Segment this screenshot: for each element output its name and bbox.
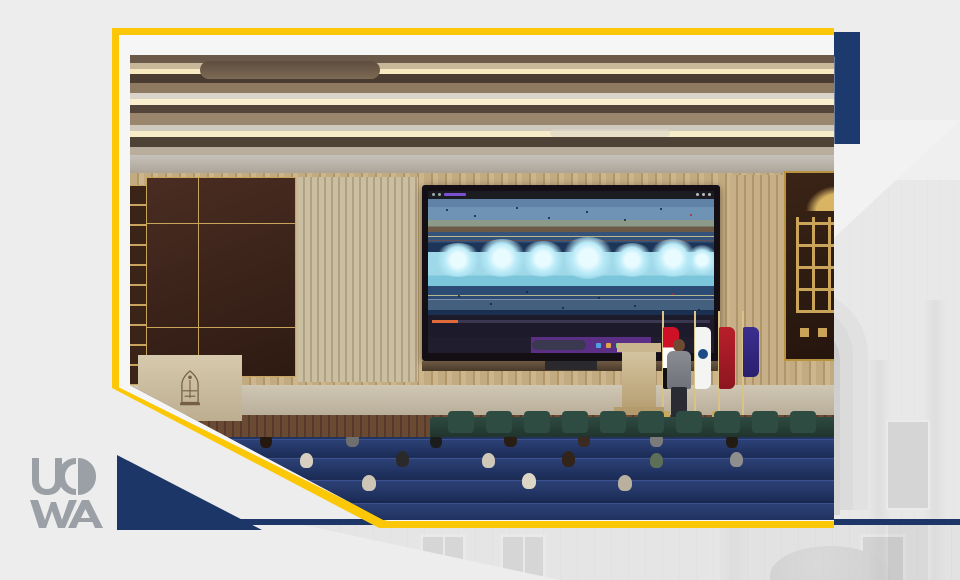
attendee-hijab bbox=[522, 473, 536, 489]
attendee bbox=[260, 437, 272, 448]
wall-curtain bbox=[298, 177, 418, 382]
attendee bbox=[430, 437, 442, 448]
calligraphy-square bbox=[818, 328, 827, 337]
wooden-desk bbox=[138, 355, 242, 421]
attendee-hijab bbox=[300, 453, 313, 468]
screen-stand bbox=[545, 361, 597, 370]
attendee bbox=[650, 453, 663, 468]
ceiling-vent bbox=[200, 61, 380, 79]
attendee bbox=[730, 452, 743, 467]
attendee-hijab bbox=[482, 453, 495, 468]
attendee bbox=[346, 437, 359, 447]
university-emblem-icon bbox=[172, 369, 208, 409]
poster-stage bbox=[0, 0, 960, 580]
ceiling-light bbox=[550, 129, 670, 137]
calligraphy-crest bbox=[800, 181, 834, 211]
attendee bbox=[618, 475, 632, 491]
attendee bbox=[174, 437, 186, 449]
media-player-titlebar bbox=[428, 191, 714, 199]
podium bbox=[622, 343, 656, 415]
calligraphy-kufic-grid bbox=[796, 217, 834, 313]
flag-purple bbox=[743, 327, 759, 377]
watermark-window bbox=[886, 420, 930, 510]
attendee bbox=[396, 451, 409, 467]
attendee-hijab bbox=[362, 475, 376, 491]
attendee bbox=[650, 437, 663, 447]
attendee bbox=[578, 437, 590, 447]
taskbar-search-box[interactable] bbox=[532, 340, 586, 350]
podium-top bbox=[617, 343, 661, 352]
attendee bbox=[562, 451, 575, 467]
navy-triangle-bottom-left bbox=[117, 455, 262, 530]
attendee bbox=[726, 437, 738, 448]
attendee bbox=[504, 437, 517, 447]
attendee bbox=[214, 455, 227, 470]
flag-red bbox=[719, 327, 735, 389]
dark-wall-panel bbox=[146, 177, 296, 377]
uowa-logo bbox=[28, 452, 108, 530]
